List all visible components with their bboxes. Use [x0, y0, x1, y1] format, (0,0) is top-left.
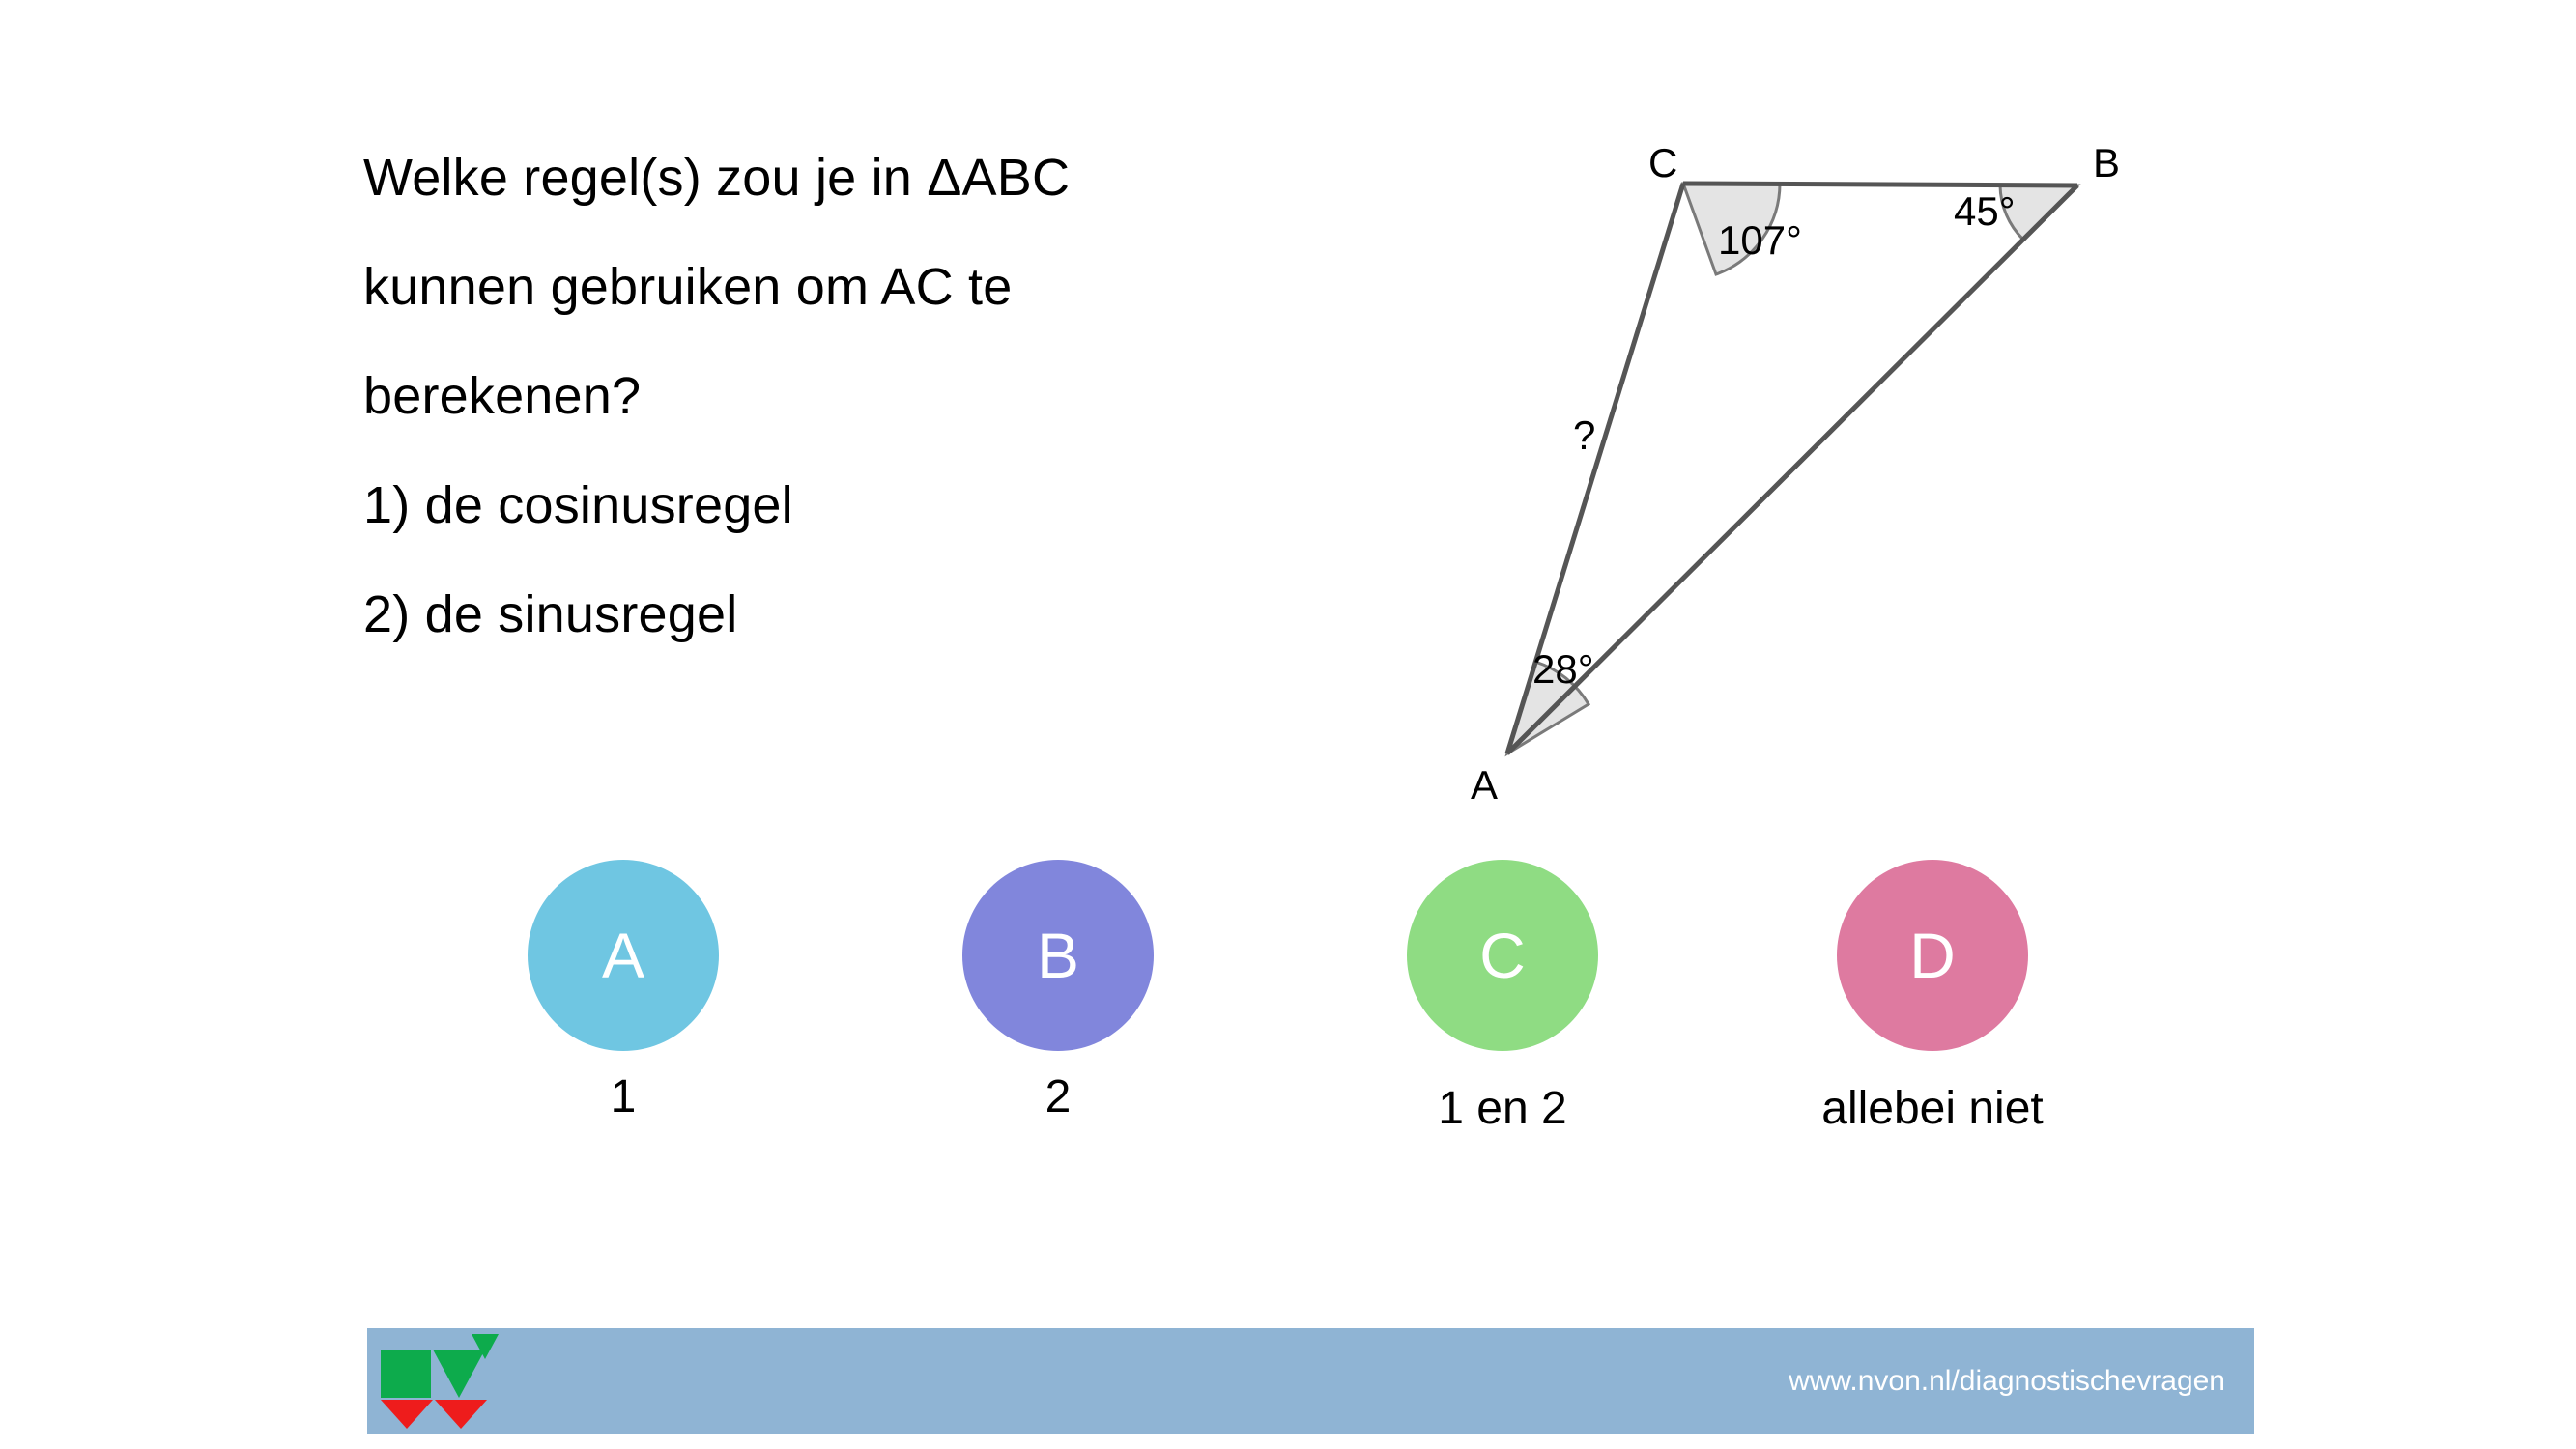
nvon-logo	[379, 1332, 499, 1431]
angle-label-a: 28°	[1532, 649, 1594, 690]
triangle-svg	[1401, 97, 2174, 831]
side-label-ac: ?	[1573, 415, 1595, 456]
question-line: 1) de cosinusregel	[363, 451, 1330, 560]
answer-circle-c[interactable]: C	[1407, 860, 1598, 1051]
answer-circle-d[interactable]: D	[1837, 860, 2028, 1051]
question-line: Welke regel(s) zou je in ΔABC	[363, 124, 1330, 233]
question-text-block: Welke regel(s) zou je in ΔABC kunnen geb…	[363, 124, 1330, 669]
answer-label-d: allebei niet	[1807, 1086, 2058, 1132]
angle-label-b: 45°	[1954, 191, 2016, 232]
answer-label-c: 1 en 2	[1377, 1086, 1628, 1132]
footer-url-text: www.nvon.nl/diagnostischevragen	[1789, 1367, 2225, 1396]
answer-option-d[interactable]: D allebei niet	[1807, 860, 2058, 1132]
vertex-label-a: A	[1471, 765, 1498, 806]
logo-green-triangle	[433, 1350, 485, 1398]
logo-green-square	[381, 1350, 431, 1398]
logo-red-triangle-right	[435, 1400, 487, 1429]
answer-label-a: 1	[498, 1074, 749, 1121]
question-line: kunnen gebruiken om AC te	[363, 233, 1330, 342]
logo-red-triangle-left	[381, 1400, 433, 1429]
footer-bar: www.nvon.nl/diagnostischevragen	[367, 1328, 2254, 1434]
answer-option-b[interactable]: B 2	[932, 860, 1184, 1121]
answer-label-b: 2	[932, 1074, 1184, 1121]
answer-circle-a[interactable]: A	[528, 860, 719, 1051]
angle-label-c: 107°	[1718, 220, 1802, 261]
answer-option-a[interactable]: A 1	[498, 860, 749, 1121]
question-line: 2) de sinusregel	[363, 560, 1330, 669]
vertex-label-b: B	[2093, 143, 2120, 184]
side-cb	[1683, 184, 2077, 185]
vertex-label-c: C	[1648, 143, 1677, 184]
answer-circle-b[interactable]: B	[962, 860, 1154, 1051]
question-line: berekenen?	[363, 342, 1330, 451]
triangle-diagram: C B A 107° 45° 28° ?	[1401, 97, 2174, 831]
answer-option-c[interactable]: C 1 en 2	[1377, 860, 1628, 1132]
